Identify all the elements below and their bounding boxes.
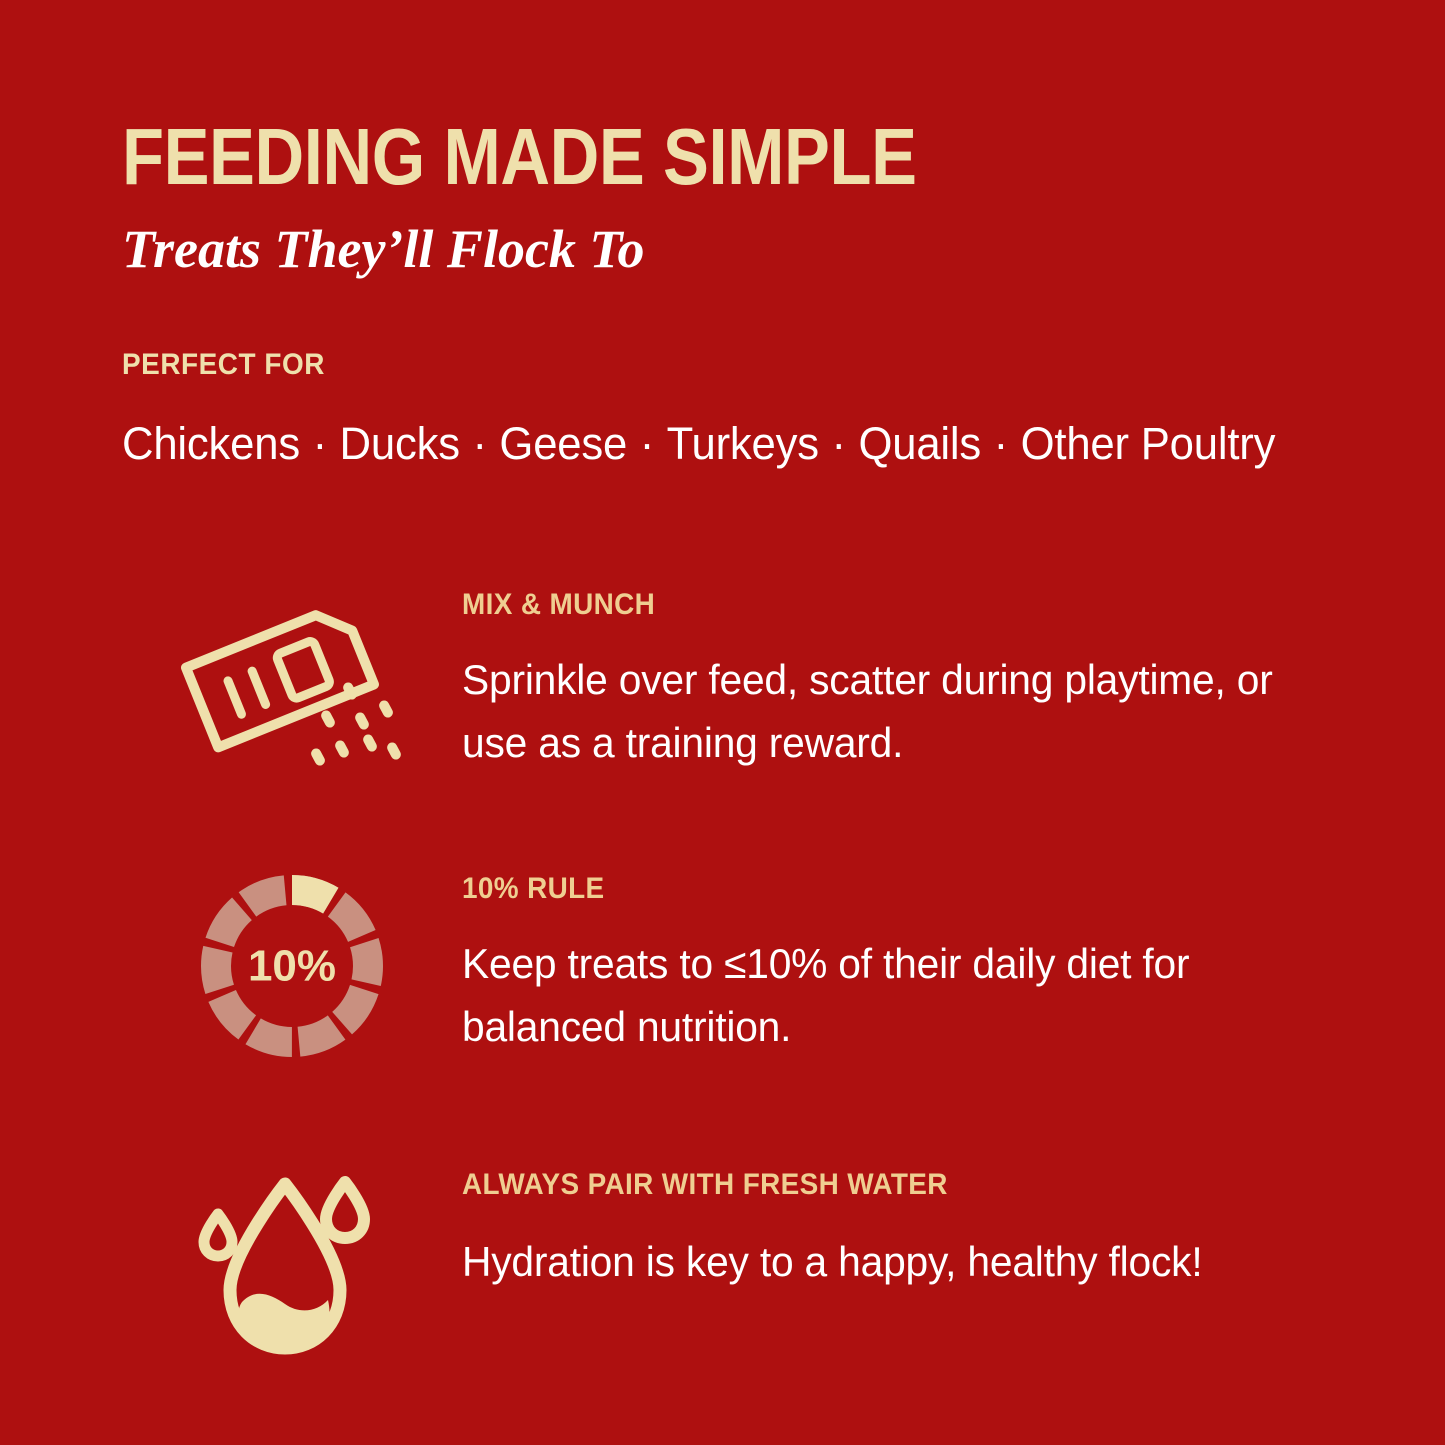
feature-text-container: 10% RULE Keep treats to ≤10% of their da…	[462, 862, 1352, 1058]
species-item-turkeys: Turkeys	[667, 418, 819, 469]
feeding-guide-infographic: FEEDING MADE SIMPLE Treats They’ll Flock…	[0, 0, 1445, 1445]
feature-row-mix-and-munch: MIX & MUNCH Sprinkle over feed, scatter …	[122, 578, 1352, 777]
feature-heading: 10% RULE	[462, 872, 1290, 906]
feature-text-container: ALWAYS PAIR WITH FRESH WATER Hydration i…	[462, 1158, 1352, 1293]
species-item-quails: Quails	[858, 418, 981, 469]
perfect-for-section: PERFECT FOR Chickens·Ducks·Geese·Turkeys…	[122, 348, 1372, 470]
small-droplet-left-icon	[204, 1214, 232, 1256]
feature-text-container: MIX & MUNCH Sprinkle over feed, scatter …	[462, 578, 1352, 774]
feature-row-fresh-water: ALWAYS PAIR WITH FRESH WATER Hydration i…	[122, 1158, 1352, 1367]
species-separator: ·	[819, 418, 859, 470]
feature-body: Sprinkle over feed, scatter during playt…	[462, 648, 1325, 774]
species-item-chickens: Chickens	[122, 418, 300, 469]
page-subtitle: Treats They’ll Flock To	[122, 220, 1342, 279]
species-item-other-poultry: Other Poultry	[1021, 418, 1276, 469]
species-list: Chickens·Ducks·Geese·Turkeys·Quails·Othe…	[122, 418, 1335, 470]
sprinkle-packet-icon	[167, 582, 417, 777]
donut-center-label: 10%	[248, 942, 336, 991]
water-droplet-icon	[185, 1162, 400, 1367]
feature-icon-container	[122, 578, 462, 777]
feature-icon-container: 10%	[122, 862, 462, 1066]
feature-body: Keep treats to ≤10% of their daily diet …	[462, 932, 1325, 1058]
species-separator: ·	[460, 418, 500, 470]
species-separator: ·	[627, 418, 667, 470]
species-item-ducks: Ducks	[340, 418, 460, 469]
species-separator: ·	[981, 418, 1021, 470]
feature-icon-container	[122, 1158, 462, 1367]
perfect-for-label: PERFECT FOR	[122, 348, 1285, 382]
header: FEEDING MADE SIMPLE Treats They’ll Flock…	[122, 118, 1342, 280]
species-item-geese: Geese	[499, 418, 627, 469]
feature-row-ten-percent-rule: 10% 10% RULE Keep treats to ≤10% of thei…	[122, 862, 1352, 1066]
ten-percent-donut-icon: 10%	[192, 866, 392, 1066]
feature-heading: MIX & MUNCH	[462, 588, 1290, 622]
small-droplet-right-icon	[326, 1182, 364, 1238]
feature-heading: ALWAYS PAIR WITH FRESH WATER	[462, 1168, 1290, 1202]
page-title: FEEDING MADE SIMPLE	[122, 118, 1171, 196]
feature-body: Hydration is key to a happy, healthy flo…	[462, 1230, 1325, 1293]
species-separator: ·	[300, 418, 340, 470]
